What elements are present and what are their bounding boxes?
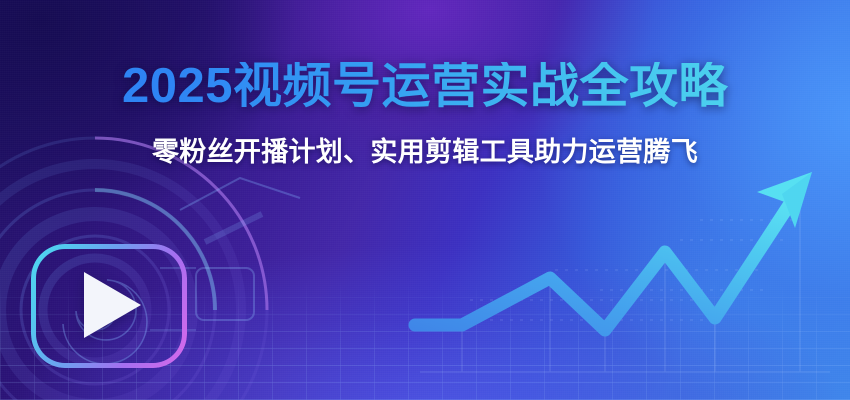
page-subtitle: 零粉丝开播计划、实用剪辑工具助力运营腾飞 <box>0 139 850 166</box>
page-title: 2025视频号运营实战全攻略 <box>0 62 850 111</box>
growth-trend-arrow <box>415 172 812 330</box>
chart-bar-guides <box>420 188 830 372</box>
promo-banner: 2025视频号运营实战全攻略 零粉丝开播计划、实用剪辑工具助力运营腾飞 <box>0 0 850 400</box>
play-icon[interactable] <box>84 272 141 338</box>
